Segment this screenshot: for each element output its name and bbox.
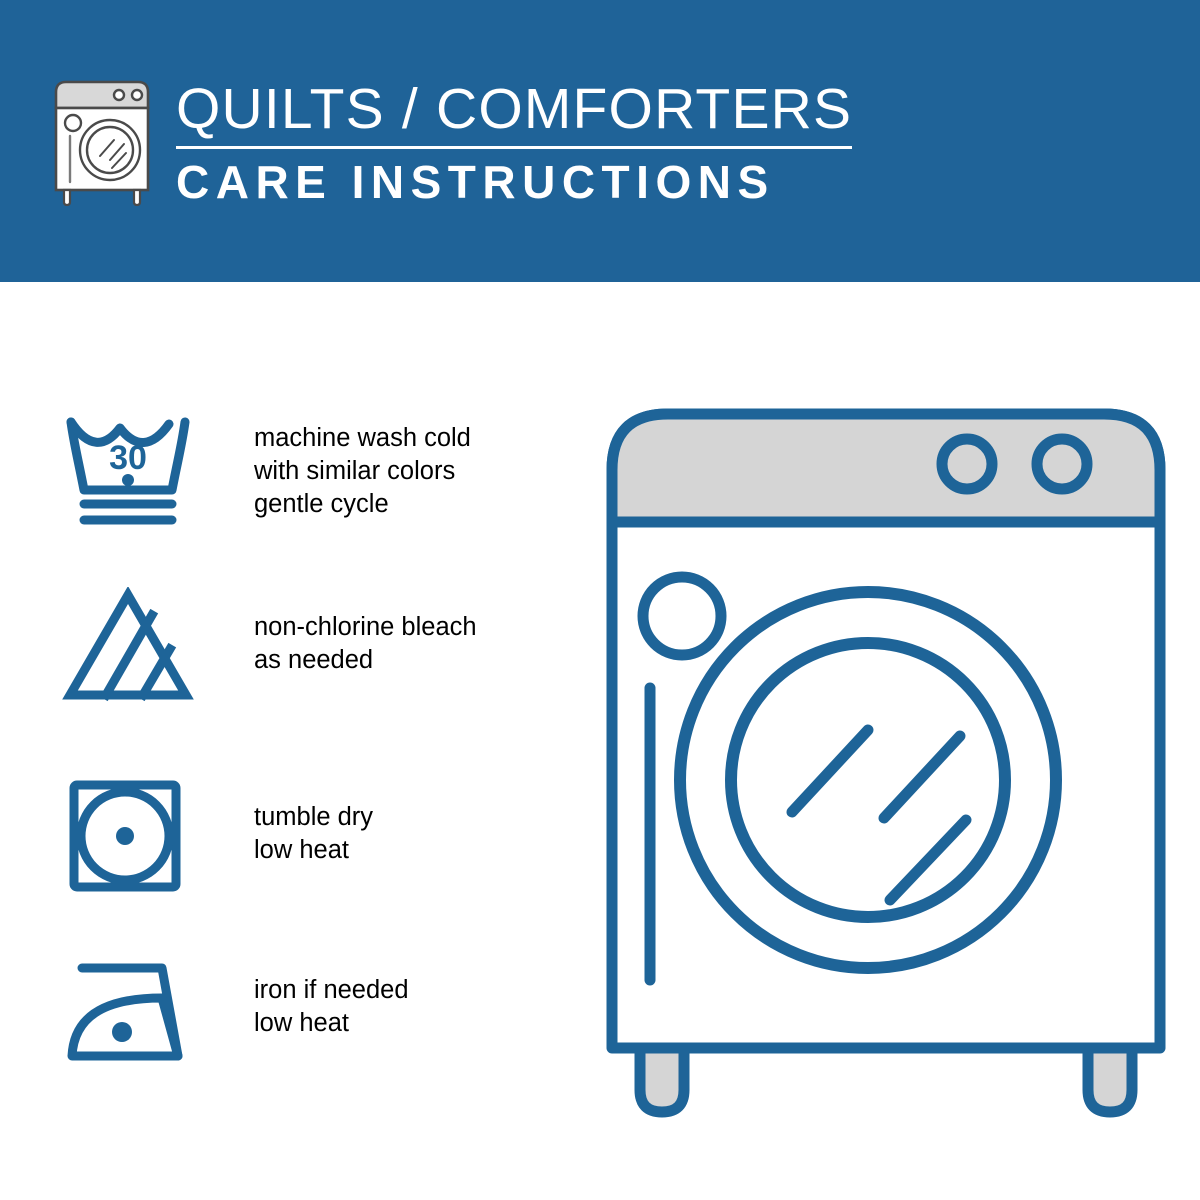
care-label-bleach: non-chlorine bleach as needed <box>254 587 477 677</box>
tumble-dry-icon <box>58 777 198 895</box>
care-label-line: as needed <box>254 644 477 677</box>
care-row-machine-wash: 30 machine wash cold with similar colors… <box>58 414 528 532</box>
washing-machine-logo-icon <box>48 78 156 206</box>
care-label-line: low heat <box>254 834 373 867</box>
care-row-iron: iron if needed low heat <box>58 952 528 1070</box>
care-row-bleach: non-chlorine bleach as needed <box>58 587 528 705</box>
header-banner: QUILTS / COMFORTERS CARE INSTRUCTIONS <box>0 0 1200 282</box>
care-label-line: gentle cycle <box>254 488 471 521</box>
care-label-line: machine wash cold <box>254 422 471 455</box>
control-knob-right <box>1037 439 1087 489</box>
header-content: QUILTS / COMFORTERS CARE INSTRUCTIONS <box>48 78 852 209</box>
dispenser-ring-icon <box>643 577 721 655</box>
drum-inner-circle <box>731 643 1005 917</box>
title-block: QUILTS / COMFORTERS CARE INSTRUCTIONS <box>176 78 852 209</box>
care-label-line: iron if needed <box>254 974 409 1007</box>
care-row-tumble-dry: tumble dry low heat <box>58 777 528 895</box>
care-label-line: low heat <box>254 1007 409 1040</box>
care-instructions-page: QUILTS / COMFORTERS CARE INSTRUCTIONS <box>0 0 1200 1200</box>
care-label-machine-wash: machine wash cold with similar colors ge… <box>254 414 471 521</box>
title-divider <box>176 146 852 149</box>
care-label-iron: iron if needed low heat <box>254 952 409 1040</box>
care-label-line: with similar colors <box>254 455 471 488</box>
page-title: QUILTS / COMFORTERS <box>176 78 852 140</box>
care-label-tumble-dry: tumble dry low heat <box>254 777 373 867</box>
wash-tub-30-icon: 30 <box>58 414 198 532</box>
care-instructions-list: 30 machine wash cold with similar colors… <box>0 282 560 1200</box>
wash-temperature-label: 30 <box>109 439 147 477</box>
care-label-line: tumble dry <box>254 801 373 834</box>
bleach-triangle-icon <box>58 587 198 705</box>
control-knob-left <box>942 439 992 489</box>
iron-icon <box>58 952 198 1070</box>
washing-machine-illustration <box>596 400 1176 1120</box>
page-subtitle: CARE INSTRUCTIONS <box>176 155 852 209</box>
care-label-line: non-chlorine bleach <box>254 611 477 644</box>
